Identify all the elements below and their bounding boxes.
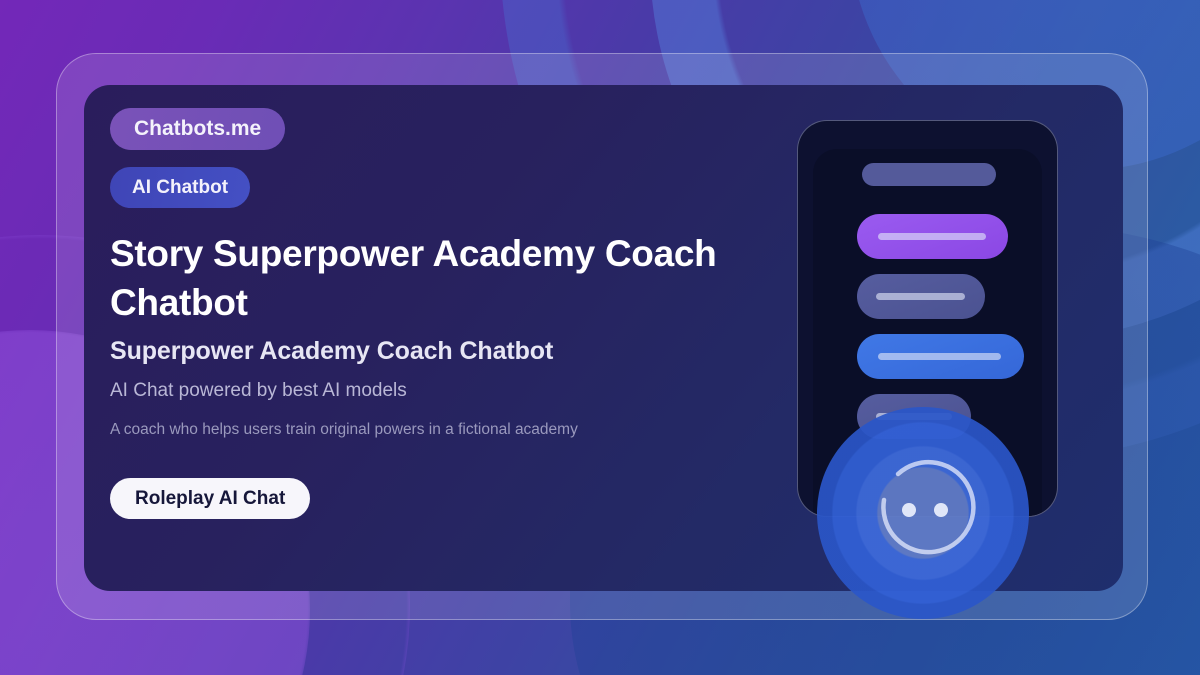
- hero-content: Chatbots.me AI Chatbot Story Superpower …: [110, 108, 730, 519]
- promo-banner: Chatbots.me AI Chatbot Story Superpower …: [0, 0, 1200, 675]
- chat-header-bar: [862, 163, 996, 186]
- message-bubble-3: [857, 334, 1024, 379]
- category-badge[interactable]: AI Chatbot: [110, 167, 250, 208]
- avatar: [817, 407, 1029, 619]
- page-title: Story Superpower Academy Coach Chatbot: [110, 229, 730, 327]
- message-line: [878, 233, 986, 240]
- message-line: [876, 293, 965, 300]
- message-bubble-1: [857, 214, 1008, 259]
- message-bubble-2: [857, 274, 985, 319]
- tagline: AI Chat powered by best AI models: [110, 380, 730, 402]
- description: A coach who helps users train original p…: [110, 421, 730, 439]
- page-subtitle: Superpower Academy Coach Chatbot: [110, 337, 730, 366]
- brand-badge[interactable]: Chatbots.me: [110, 108, 285, 150]
- roleplay-ai-chat-button[interactable]: Roleplay AI Chat: [110, 478, 310, 519]
- smiley-face-icon: [858, 448, 988, 578]
- message-line: [878, 353, 1001, 360]
